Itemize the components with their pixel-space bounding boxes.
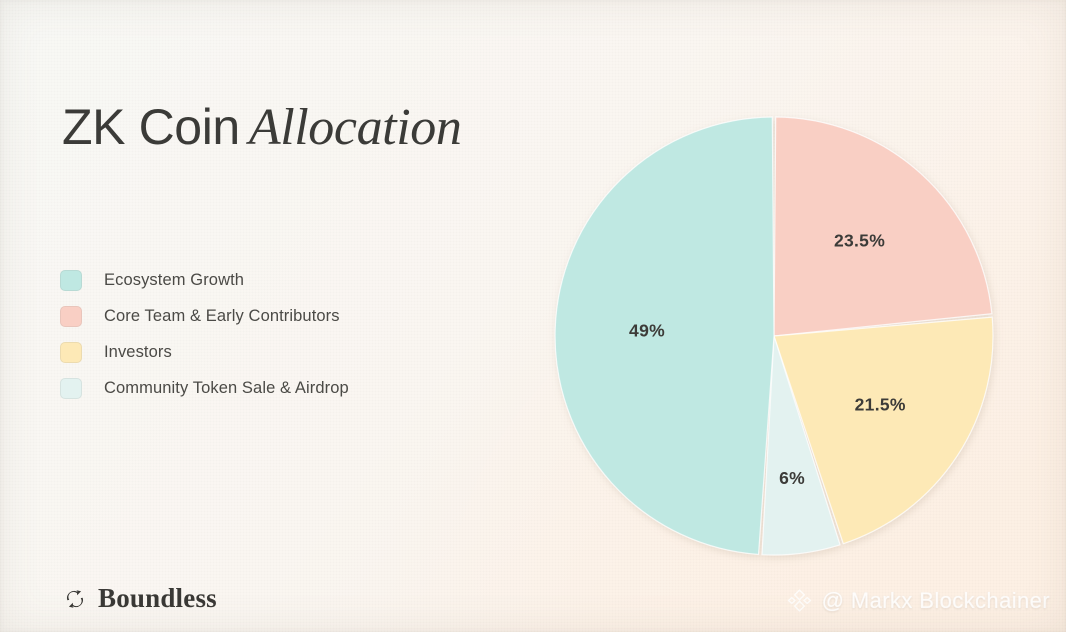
legend-item-label: Core Team & Early Contributors	[104, 307, 340, 326]
diamond-logo-icon	[786, 587, 813, 614]
pie-slice[interactable]	[774, 117, 992, 336]
title-primary: ZK Coin	[62, 99, 240, 155]
chart-legend: Ecosystem Growth Core Team & Early Contr…	[60, 262, 349, 406]
legend-item-core-team[interactable]: Core Team & Early Contributors	[60, 298, 349, 334]
legend-swatch-icon	[60, 342, 82, 363]
legend-item-label: Community Token Sale & Airdrop	[104, 379, 349, 398]
pie-slice-label: 6%	[779, 468, 805, 488]
brand-footer: Boundless	[62, 583, 217, 614]
pie-chart: 23.5%21.5%6%49%	[548, 110, 1000, 562]
legend-item-investors[interactable]: Investors	[60, 334, 349, 370]
legend-swatch-icon	[60, 378, 82, 399]
pie-slice-label: 21.5%	[855, 394, 906, 414]
legend-swatch-icon	[60, 270, 82, 291]
recycle-loop-icon	[62, 586, 88, 612]
legend-swatch-icon	[60, 306, 82, 327]
brand-name: Boundless	[98, 583, 217, 614]
legend-item-community-token-sale[interactable]: Community Token Sale & Airdrop	[60, 370, 349, 406]
page-title: ZK CoinAllocation	[62, 100, 461, 156]
watermark: @ Markx Blockchainer	[786, 587, 1050, 614]
slide-canvas: ZK CoinAllocation Ecosystem Growth Core …	[0, 0, 1066, 632]
pie-slice-group	[555, 117, 993, 555]
watermark-handle: @ Markx Blockchainer	[822, 588, 1050, 614]
legend-item-label: Investors	[104, 343, 172, 362]
pie-slice-label: 23.5%	[834, 231, 885, 251]
pie-slice-label: 49%	[629, 321, 665, 341]
legend-item-ecosystem-growth[interactable]: Ecosystem Growth	[60, 262, 349, 298]
legend-item-label: Ecosystem Growth	[104, 271, 244, 290]
title-emphasis: Allocation	[249, 99, 462, 156]
